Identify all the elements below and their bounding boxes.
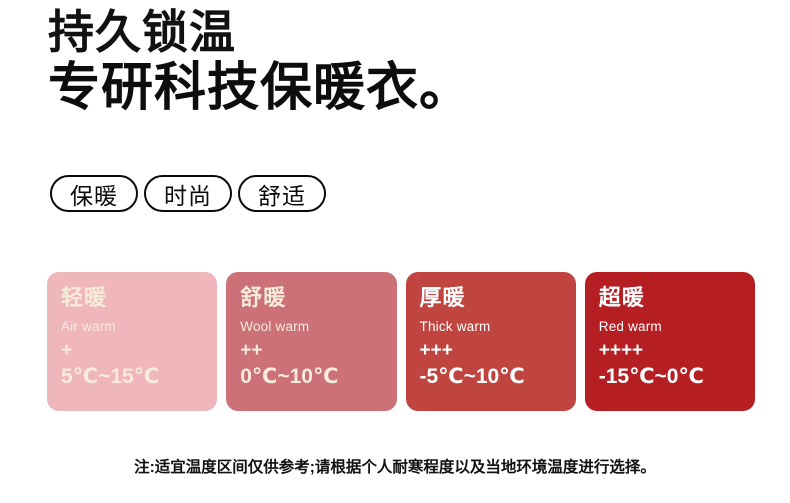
warmth-card-rating: +++ <box>420 341 576 361</box>
headline-block: 持久锁温 专研科技保暖衣。 <box>48 4 472 118</box>
tag-pill-comfort[interactable]: 舒适 <box>238 175 326 212</box>
warmth-card-title: 轻暖 <box>61 285 217 311</box>
warmth-level-row: 轻暖 Air warm + 5℃~15℃ 舒暖 Wool warm ++ 0℃~… <box>47 272 755 411</box>
warmth-card-title: 舒暖 <box>240 285 396 311</box>
warmth-card-subtitle: Wool warm <box>240 318 396 335</box>
warmth-card-temperature: -5℃~10℃ <box>420 365 576 389</box>
warmth-card-temperature: 0℃~10℃ <box>240 365 396 389</box>
headline-line-2: 专研科技保暖衣。 <box>48 58 472 118</box>
warmth-card-rating: ++ <box>240 341 396 361</box>
tag-pill-warmth[interactable]: 保暖 <box>50 175 138 212</box>
warmth-card-air[interactable]: 轻暖 Air warm + 5℃~15℃ <box>47 272 217 411</box>
warmth-card-temperature: -15℃~0℃ <box>599 365 755 389</box>
warmth-card-rating: + <box>61 341 217 361</box>
warmth-card-wool[interactable]: 舒暖 Wool warm ++ 0℃~10℃ <box>226 272 396 411</box>
tag-pill-fashion[interactable]: 时尚 <box>144 175 232 212</box>
footnote-disclaimer: 注:适宜温度区间仅供参考;请根据个人耐寒程度以及当地环境温度进行选择。 <box>0 455 790 477</box>
warmth-card-red[interactable]: 超暖 Red warm ++++ -15℃~0℃ <box>585 272 755 411</box>
warmth-card-title: 厚暖 <box>420 285 576 311</box>
promo-banner: 持久锁温 专研科技保暖衣。 保暖 时尚 舒适 轻暖 Air warm + 5℃~… <box>0 0 790 503</box>
tag-pill-label: 舒适 <box>258 177 306 211</box>
tag-row: 保暖 时尚 舒适 <box>50 175 326 212</box>
warmth-card-title: 超暖 <box>599 285 755 311</box>
warmth-card-subtitle: Red warm <box>599 318 755 335</box>
warmth-card-subtitle: Thick warm <box>420 318 576 335</box>
tag-pill-label: 保暖 <box>70 177 118 211</box>
headline-line-1: 持久锁温 <box>48 4 472 60</box>
warmth-card-temperature: 5℃~15℃ <box>61 365 217 389</box>
tag-pill-label: 时尚 <box>164 177 212 211</box>
warmth-card-subtitle: Air warm <box>61 318 217 335</box>
warmth-card-rating: ++++ <box>599 341 755 361</box>
warmth-card-thick[interactable]: 厚暖 Thick warm +++ -5℃~10℃ <box>406 272 576 411</box>
